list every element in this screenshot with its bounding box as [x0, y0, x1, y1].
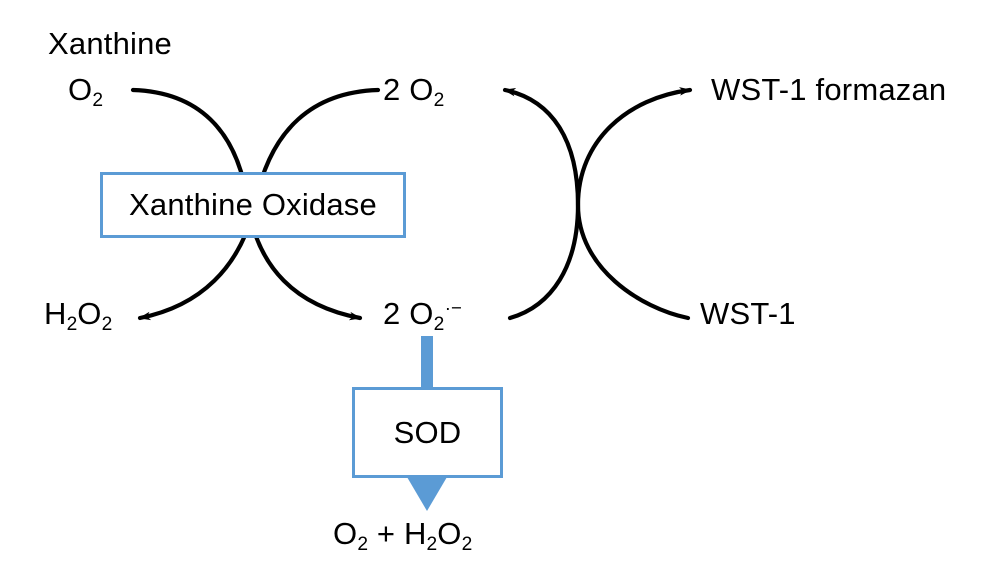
product-h-sub: 2 — [427, 534, 438, 555]
superoxide-coefficient: 2 — [383, 296, 409, 331]
species-label-sod-products: O2 + H2O2 — [333, 518, 472, 549]
enzyme-label-sod: SOD — [394, 415, 462, 451]
arrow-superoxide-to-2o2 — [505, 90, 578, 318]
arrow-wst1-to-formazan — [578, 90, 690, 318]
o2-coefficient: 2 — [383, 72, 409, 107]
h2o2-o: O — [77, 296, 101, 331]
h2o2-sub1: 2 — [67, 314, 78, 335]
product-o2-sub: 2 — [462, 534, 473, 555]
o2-subscript: 2 — [434, 90, 445, 111]
superoxide-subscript: 2 — [434, 314, 445, 335]
o2-subscript: 2 — [92, 90, 103, 111]
product-o2: O — [437, 516, 461, 551]
product-o-sub: 2 — [357, 534, 368, 555]
product-h: H — [404, 516, 427, 551]
species-label-wst1-formazan: WST-1 formazan — [711, 74, 946, 105]
o2-formula: O — [68, 72, 92, 107]
species-label-hydrogen-peroxide: H2O2 — [44, 298, 112, 329]
o2-formula: O — [409, 72, 433, 107]
species-label-wst1: WST-1 — [700, 298, 796, 329]
enzyme-box-xanthine-oxidase: Xanthine Oxidase — [100, 172, 406, 238]
product-plus: + — [368, 516, 404, 551]
species-label-xanthine: Xanthine — [48, 28, 172, 59]
superoxide-radical-charge: ·− — [445, 297, 462, 318]
enzyme-label-xanthine-oxidase: Xanthine Oxidase — [129, 187, 377, 223]
enzyme-box-sod: SOD — [352, 387, 503, 478]
superoxide-formula: O — [409, 296, 433, 331]
reaction-diagram: Xanthine O2 2 O2 WST-1 formazan H2O2 2 O… — [0, 0, 1000, 580]
species-label-o2-substrate: O2 — [68, 74, 103, 105]
h2o2-h: H — [44, 296, 67, 331]
species-label-2o2-product: 2 O2 — [383, 74, 444, 105]
product-o: O — [333, 516, 357, 551]
species-label-superoxide: 2 O2·− — [383, 298, 461, 329]
h2o2-sub2: 2 — [102, 314, 113, 335]
